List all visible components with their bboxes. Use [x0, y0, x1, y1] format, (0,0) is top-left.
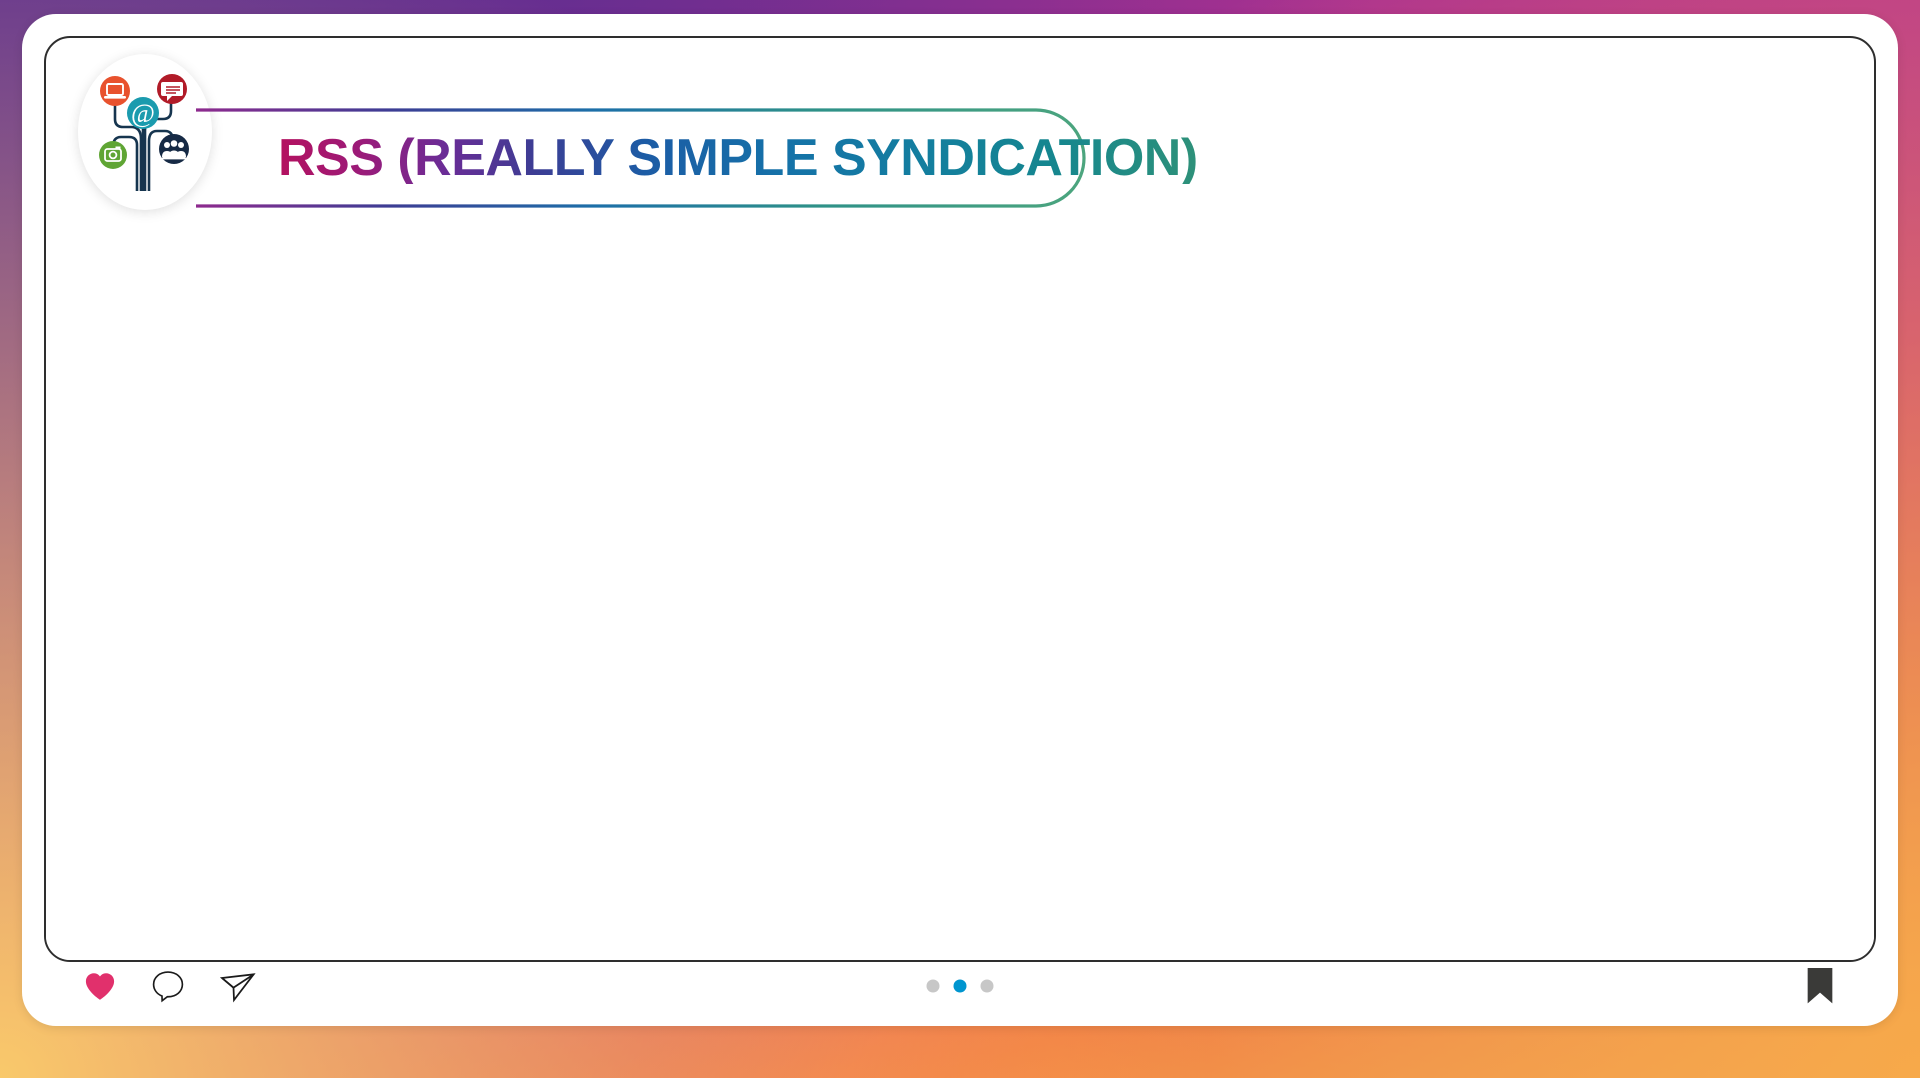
slide-header: @ — [46, 38, 1874, 228]
share-icon — [216, 994, 260, 1009]
camera-icon — [99, 141, 127, 169]
save-button[interactable] — [1800, 964, 1840, 1008]
svg-text:@: @ — [131, 99, 155, 128]
group-people-icon — [159, 134, 189, 164]
primary-actions — [80, 956, 260, 1016]
carousel-dot-3[interactable] — [981, 980, 994, 993]
share-button[interactable] — [216, 966, 260, 1006]
post-action-bar — [44, 956, 1876, 1016]
slide-body — [46, 228, 1874, 962]
comment-button[interactable] — [148, 967, 188, 1005]
carousel-dot-1[interactable] — [927, 980, 940, 993]
heart-icon — [80, 992, 120, 1007]
bookmark-icon — [1800, 996, 1840, 1011]
instagram-post-backdrop: @ — [0, 0, 1920, 1078]
secondary-actions — [1800, 956, 1840, 1016]
at-symbol-icon: @ — [127, 97, 159, 129]
title-banner: RSS (REALLY SIMPLE SYNDICATION) — [196, 104, 1096, 212]
page-title: RSS (REALLY SIMPLE SYNDICATION) — [278, 132, 1198, 184]
social-media-tree-logo: @ — [78, 54, 212, 210]
laptop-icon — [100, 76, 130, 106]
carousel-indicator — [927, 980, 994, 993]
carousel-dot-2[interactable] — [954, 980, 967, 993]
chat-bubble-icon — [157, 74, 187, 104]
post-card: @ — [22, 14, 1898, 1026]
like-button[interactable] — [80, 968, 120, 1004]
slide-frame: @ — [44, 36, 1876, 962]
comment-icon — [148, 993, 188, 1008]
